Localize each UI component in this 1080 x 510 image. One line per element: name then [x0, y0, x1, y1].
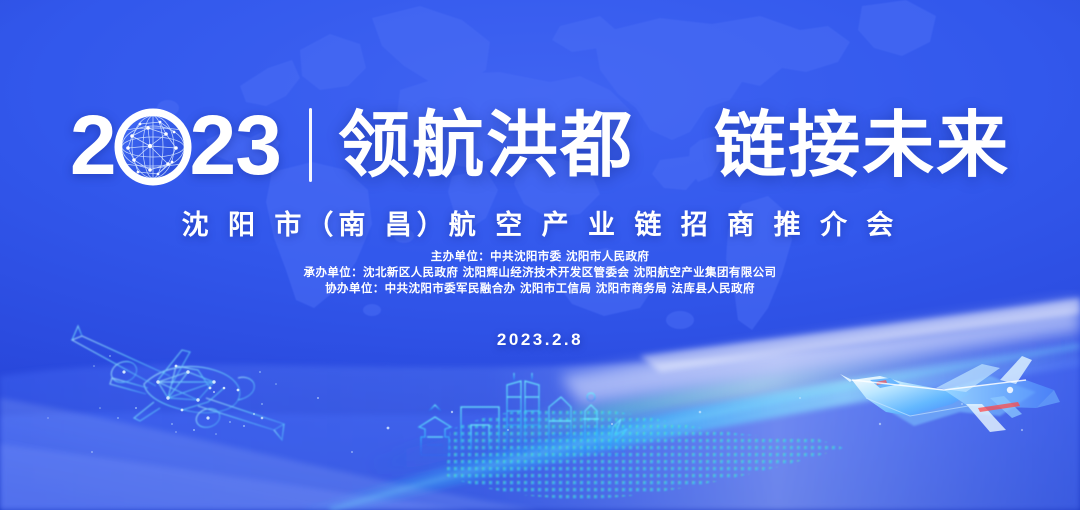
title-divider: [309, 108, 312, 182]
organizer-line-organizer: 承办单位：沈北新区人民政府 沈阳辉山经济技术开发区管委会 沈阳航空产业集团有限公…: [0, 264, 1080, 280]
year-digit-first: 2: [70, 103, 116, 187]
event-poster: 2: [0, 0, 1080, 510]
poster-content: 2: [0, 0, 1080, 510]
title-part-one: 领航洪都: [338, 103, 634, 187]
year-logo: 2: [70, 103, 281, 187]
title-part-two: 链接未来: [714, 103, 1010, 187]
title-row: 2: [0, 103, 1080, 187]
event-subtitle: 沈 阳 市（南 昌）航 空 产 业 链 招 商 推 介 会: [0, 203, 1080, 242]
page-title: 领航洪都 链接未来: [338, 109, 1010, 181]
event-date: 2023.2.8: [0, 330, 1080, 350]
organizer-line-coorganizer: 协办单位：中共沈阳市委军民融合办 沈阳市工信局 沈阳市商务局 法库县人民政府: [0, 280, 1080, 296]
year-digits-last: 23: [190, 103, 281, 187]
organizer-line-host: 主办单位：中共沈阳市委 沈阳市人民政府: [0, 248, 1080, 264]
organizer-list: 主办单位：中共沈阳市委 沈阳市人民政府 承办单位：沈北新区人民政府 沈阳辉山经济…: [0, 248, 1080, 296]
network-globe-icon: [114, 108, 192, 186]
